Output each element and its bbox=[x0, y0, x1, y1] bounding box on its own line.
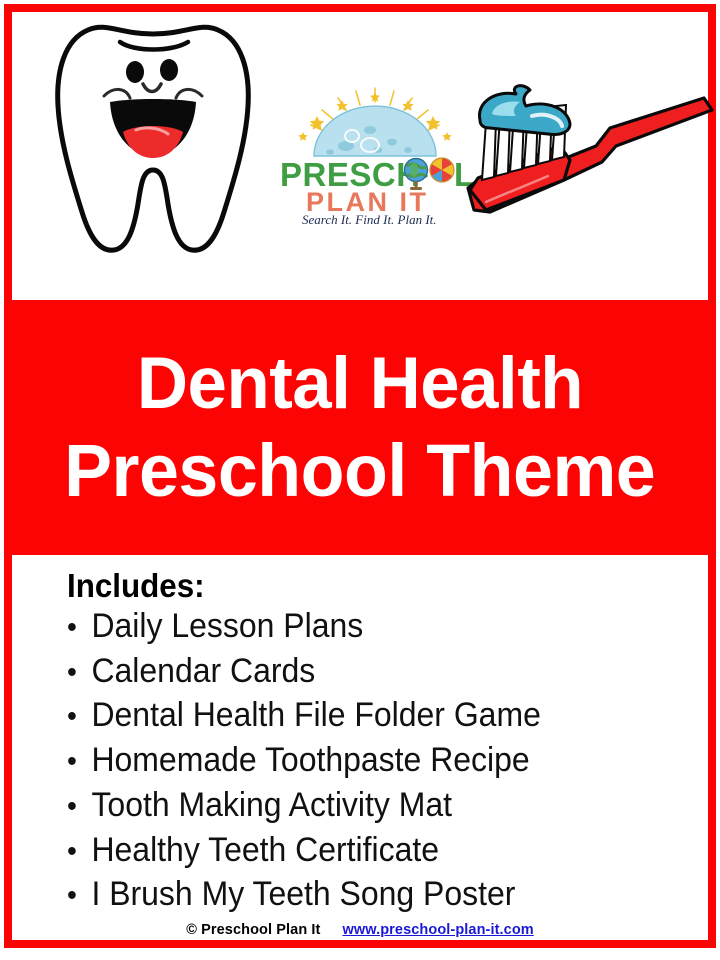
footer: © Preschool Plan It www.preschool-plan-i… bbox=[12, 922, 708, 938]
toothbrush-icon bbox=[460, 84, 718, 224]
list-item: • I Brush My Teeth Song Poster bbox=[67, 872, 670, 917]
page-title-line-2: Preschool Theme bbox=[64, 427, 655, 514]
website-link[interactable]: www.preschool-plan-it.com bbox=[342, 922, 533, 938]
list-item: • Daily Lesson Plans bbox=[67, 604, 670, 649]
poster-container: PRESCH bbox=[4, 4, 716, 948]
header-artwork-band: PRESCH bbox=[12, 12, 708, 300]
list-item-label: Calendar Cards bbox=[91, 649, 315, 694]
list-item-label: Dental Health File Folder Game bbox=[91, 693, 540, 738]
bullet-icon: • bbox=[67, 613, 91, 643]
list-item: • Calendar Cards bbox=[67, 649, 670, 694]
list-item-label: I Brush My Teeth Song Poster bbox=[91, 872, 515, 917]
bullet-icon: • bbox=[67, 747, 91, 777]
list-item: • Dental Health File Folder Game bbox=[67, 693, 670, 738]
smiling-tooth-icon bbox=[48, 20, 258, 258]
bullet-icon: • bbox=[67, 792, 91, 822]
list-item: • Tooth Making Activity Mat bbox=[67, 783, 670, 828]
copyright-text: © Preschool Plan It bbox=[186, 922, 320, 938]
includes-list: • Daily Lesson Plans • Calendar Cards • … bbox=[12, 604, 708, 917]
includes-heading: Includes: bbox=[67, 569, 676, 602]
title-band: Dental Health Preschool Theme bbox=[12, 300, 708, 555]
list-item-label: Healthy Teeth Certificate bbox=[91, 828, 439, 873]
page-title-line-1: Dental Health bbox=[137, 341, 583, 427]
list-item-label: Tooth Making Activity Mat bbox=[91, 783, 452, 828]
list-item: • Healthy Teeth Certificate bbox=[67, 828, 670, 873]
bullet-icon: • bbox=[67, 837, 91, 867]
list-item-label: Homemade Toothpaste Recipe bbox=[91, 738, 529, 783]
bullet-icon: • bbox=[67, 658, 91, 688]
bullet-icon: • bbox=[67, 881, 91, 911]
preschool-plan-it-logo-icon: PRESCH bbox=[270, 86, 480, 226]
bullet-icon: • bbox=[67, 702, 91, 732]
list-item: • Homemade Toothpaste Recipe bbox=[67, 738, 670, 783]
list-item-label: Daily Lesson Plans bbox=[91, 604, 363, 649]
svg-text:Search It. Find It. Plan It.: Search It. Find It. Plan It. bbox=[302, 212, 437, 226]
includes-section: Includes: • Daily Lesson Plans • Calenda… bbox=[12, 555, 708, 940]
